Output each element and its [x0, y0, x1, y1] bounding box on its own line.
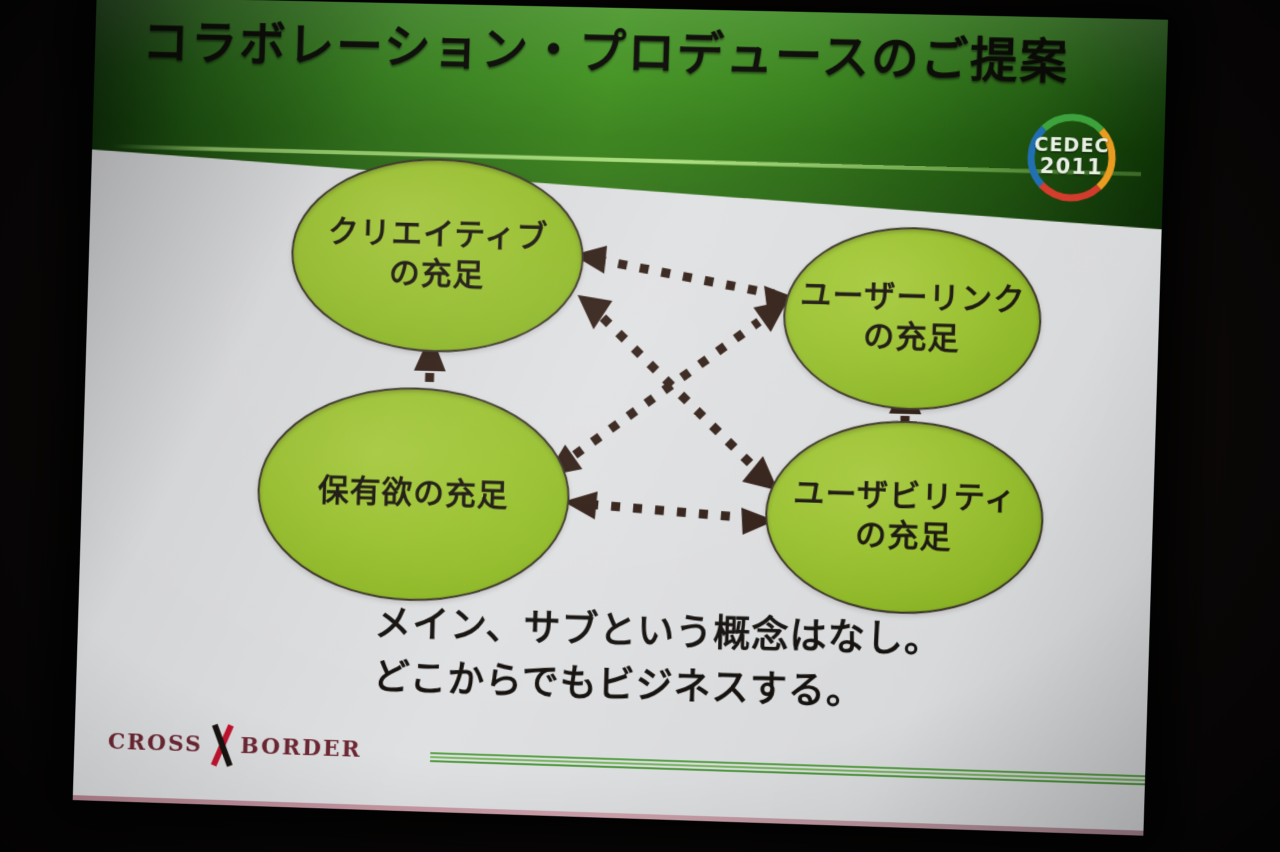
crossborder-logo-right: BORDER: [240, 733, 362, 763]
node-usability-label: ユーザビリティ の充足: [791, 474, 1017, 560]
node-userlink-label: ユーザーリンク の充足: [798, 276, 1025, 361]
slide-canvas: コラボレーション・プロデュースのご提案 CEDEC 2011: [73, 0, 1168, 836]
slide-caption: メイン、サブという概念はなし。 どこからでもビジネスする。: [372, 597, 1097, 727]
node-userlink-line1: ユーザーリンク: [800, 277, 1026, 319]
x-cross-icon: [204, 725, 239, 766]
slide-surface: コラボレーション・プロデュースのご提案 CEDEC 2011: [73, 0, 1168, 836]
node-creative-line2: の充足: [388, 255, 484, 293]
node-creative-label: クリエイティブ の充足: [326, 213, 549, 298]
crossborder-logo: CROSS BORDER: [107, 722, 362, 770]
node-creative-line1: クリエイティブ: [327, 214, 548, 255]
crossborder-logo-left: CROSS: [108, 729, 204, 758]
photo-of-projected-slide: コラボレーション・プロデュースのご提案 CEDEC 2011: [0, 0, 1280, 852]
node-userlink-line2: の充足: [863, 318, 961, 357]
node-usability-line2: の充足: [855, 517, 953, 556]
footer-rule: [430, 752, 1145, 786]
connector-creative-usability: [572, 295, 784, 491]
node-ownership-label: 保有欲の充足: [317, 472, 509, 517]
connector-userlink-ownership: [546, 294, 788, 482]
connector-ownership-usability: [563, 491, 776, 536]
node-usability-line1: ユーザビリティ: [793, 475, 1017, 517]
